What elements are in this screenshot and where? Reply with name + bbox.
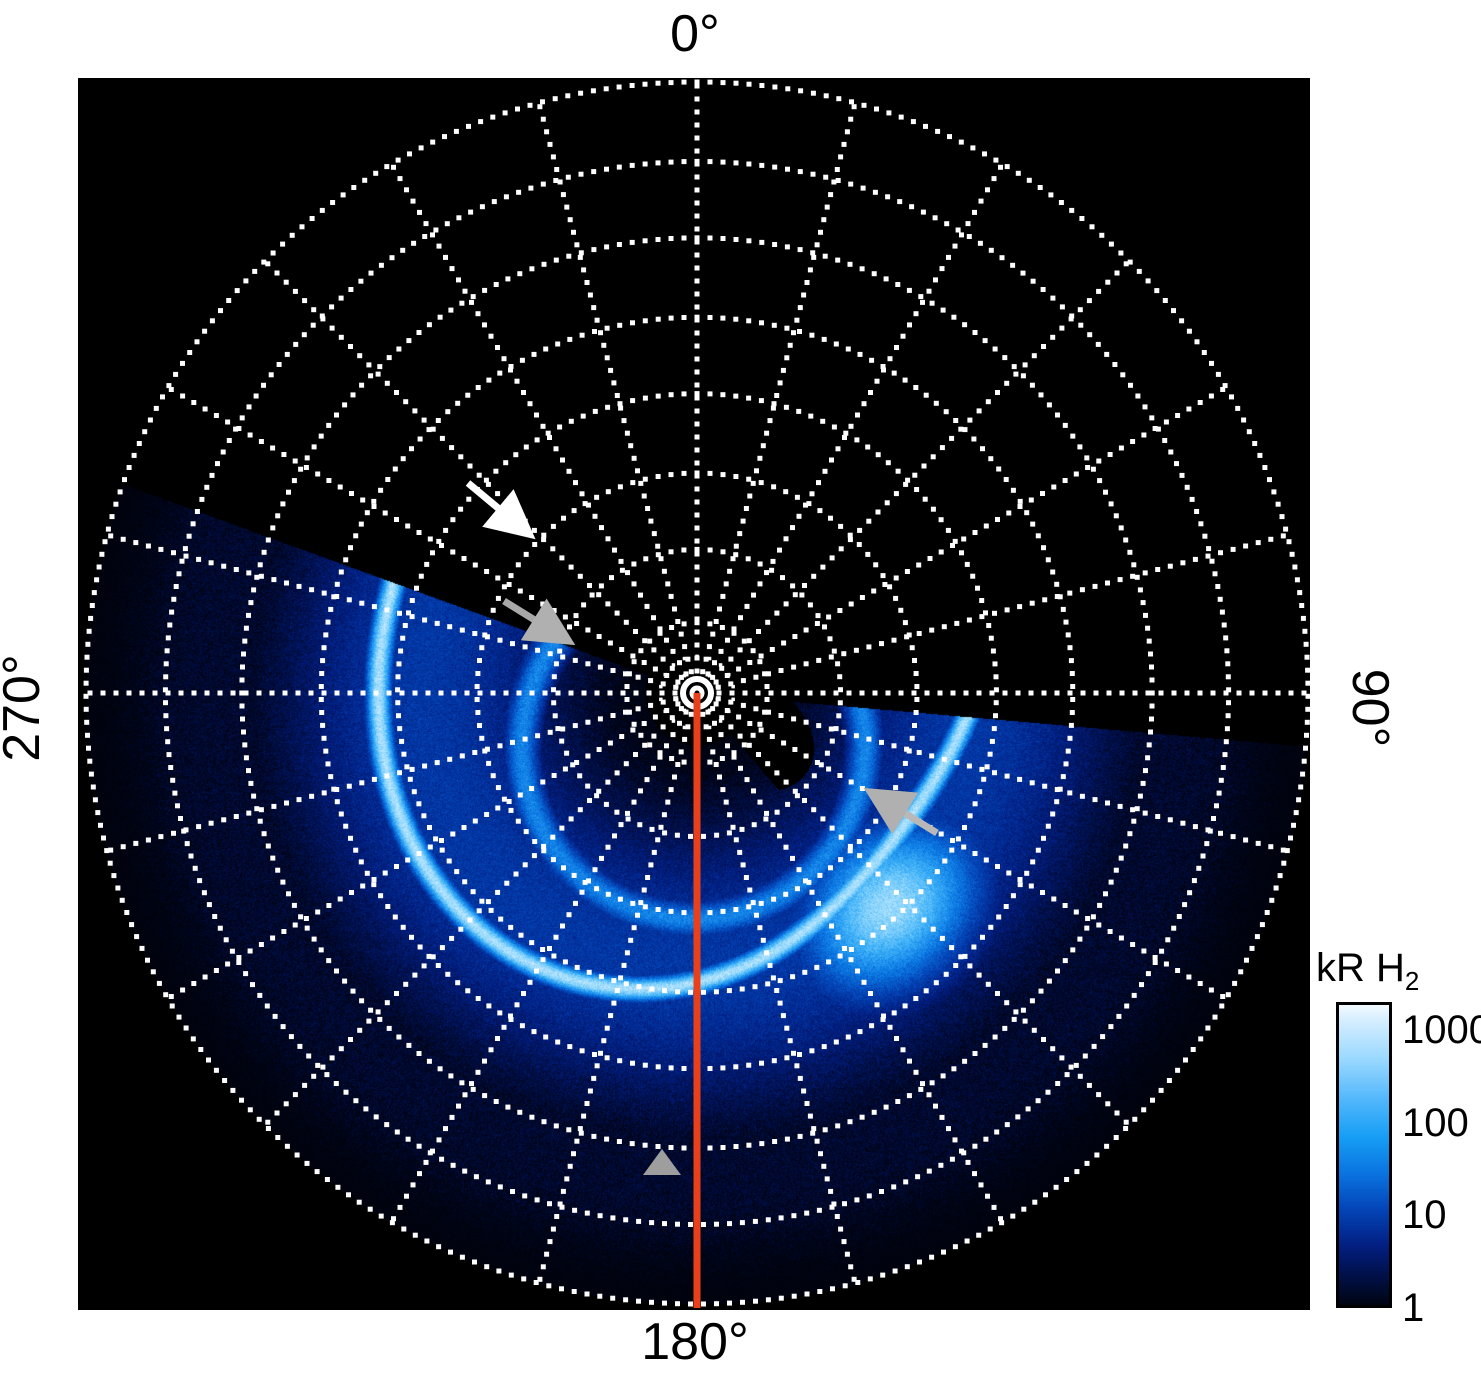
colorbar-tick-1000: 1000 [1402, 1010, 1481, 1050]
gray-arrow-right [872, 793, 937, 833]
figure-root: 0° 180° 270° 90° kR H2 1000100101 [0, 0, 1481, 1386]
colorbar-tick-10: 10 [1402, 1195, 1447, 1235]
colorbar-tick-labels: 1000100101 [1316, 946, 1481, 1326]
axis-label-180deg: 180° [0, 1316, 1390, 1368]
colorbar-tick-1: 1 [1402, 1288, 1424, 1328]
colorbar-tick-100: 100 [1402, 1103, 1469, 1143]
axis-label-0deg: 0° [0, 8, 1390, 60]
gray-arrow-upper [504, 601, 567, 640]
gray-triangle-bottom [643, 1149, 681, 1175]
annotation-markers [468, 483, 937, 1175]
white-arrow-upper [468, 483, 528, 533]
axis-label-270deg: 270° [0, 628, 48, 788]
axis-label-90deg: 90° [1344, 628, 1396, 788]
colorbar: kR H2 1000100101 [1316, 946, 1481, 1326]
grid-lines [84, 80, 1311, 1309]
polar-plot-area [78, 78, 1310, 1310]
polar-grid-overlay [78, 78, 1310, 1310]
